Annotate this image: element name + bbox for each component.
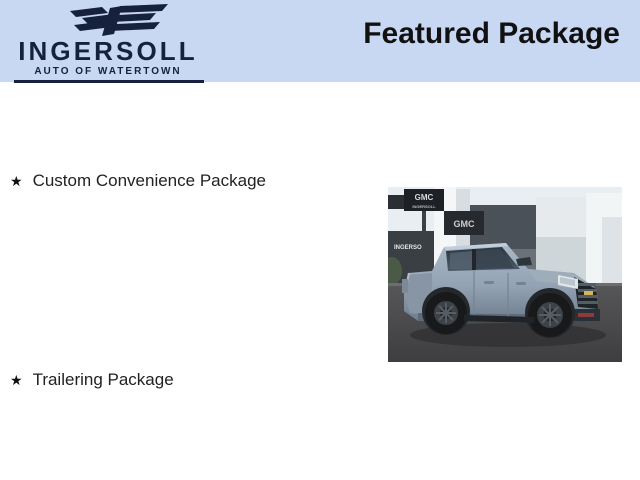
slide-root: INGERSOLL AUTO OF WATERTOWN Featured Pac…	[0, 0, 640, 480]
svg-text:GMC: GMC	[415, 193, 434, 202]
star-bullet-icon: ★	[10, 170, 23, 192]
list-item: ★ Trailering Package	[10, 369, 174, 391]
vehicle-photo: GMC INGERSOLL GMC INGERSO	[388, 187, 622, 362]
page-title: Featured Package	[363, 17, 620, 51]
svg-text:INGERSOLL: INGERSOLL	[412, 204, 436, 209]
list-item-label: Trailering Package	[33, 369, 174, 391]
list-item: ★ Custom Convenience Package	[10, 170, 266, 192]
list-item-label: Custom Convenience Package	[33, 170, 266, 192]
vehicle-photo-content: GMC INGERSOLL GMC INGERSO	[388, 187, 622, 362]
svg-text:GMC: GMC	[454, 219, 475, 229]
svg-text:INGERSO: INGERSO	[394, 245, 422, 251]
star-bullet-icon: ★	[10, 369, 23, 391]
feature-list: ★ Custom Convenience Package ★ Trailerin…	[0, 0, 390, 480]
